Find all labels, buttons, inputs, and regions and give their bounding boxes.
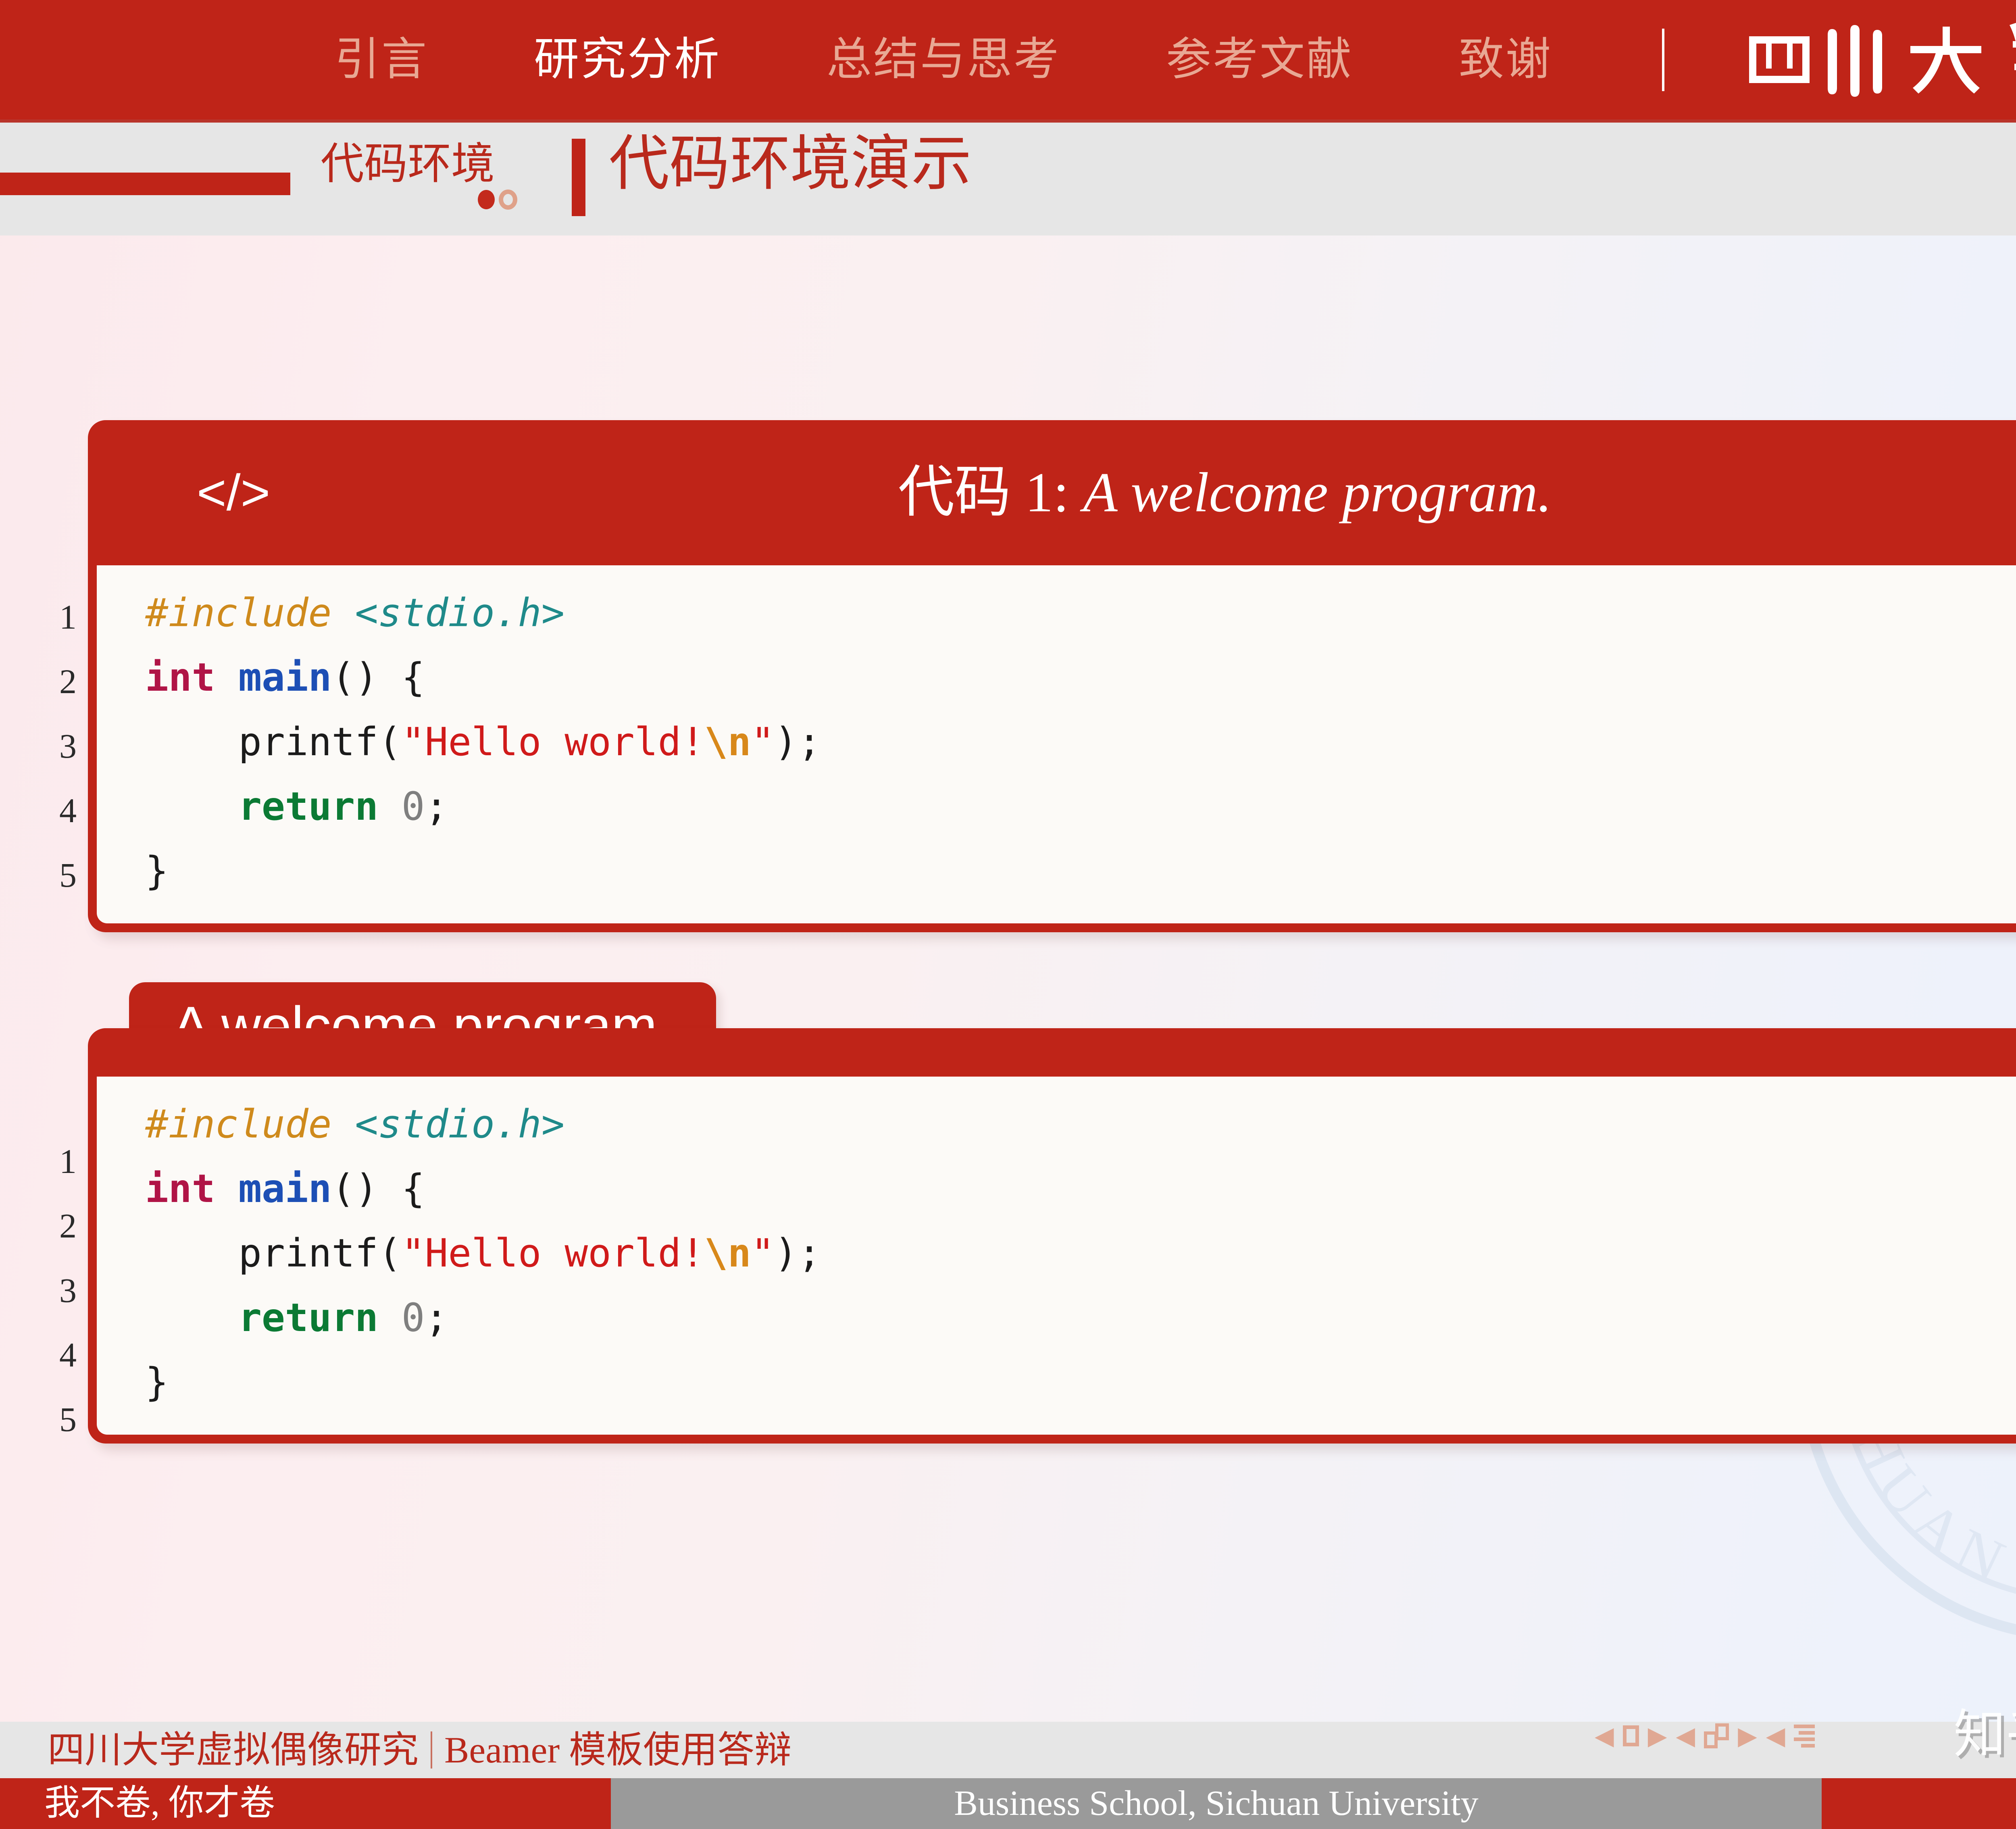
code-token: return <box>238 1295 378 1340</box>
code-block-1-body: #include <stdio.h>int main() { printf("H… <box>97 565 2016 923</box>
nav-item-analysis[interactable]: 研究分析 <box>534 37 721 82</box>
next-slide-icon[interactable]: ▶ <box>1648 1723 1667 1748</box>
code-block-2-line-numbers: 12345 <box>16 1129 77 1452</box>
prev-section-icon[interactable]: ◀ <box>1766 1723 1785 1748</box>
code-line: return 0; <box>97 774 2016 839</box>
page-title: 代码环境演示 <box>609 134 972 194</box>
code-line: } <box>97 839 2016 903</box>
code-token: \n <box>704 719 751 765</box>
nav-item-summary[interactable]: 总结与思考 <box>827 37 1060 82</box>
line-number: 1 <box>16 585 77 649</box>
code-block-1-header: </> 代码 1: A welcome program. </> <box>88 420 2016 565</box>
top-navigation-bar: 引言 研究分析 总结与思考 参考文献 致谢 <box>0 0 2016 119</box>
code-line: #include <stdio.h> <box>97 581 2016 645</box>
code-token: ; <box>425 1295 448 1340</box>
code-line: printf("Hello world!\n"); <box>97 710 2016 774</box>
nav-item-references[interactable]: 参考文献 <box>1166 37 1353 82</box>
line-number: 2 <box>16 649 77 714</box>
code-token <box>215 655 238 700</box>
code-token: 0 <box>402 1295 425 1340</box>
status-bar: 我不卷, 你才卷 Business School, Sichuan Univer… <box>0 1778 2016 1829</box>
code-token <box>145 784 238 829</box>
frames-icon[interactable] <box>1704 1723 1729 1748</box>
code-token: () { <box>331 655 425 700</box>
sichuan-university-logo <box>1737 19 2016 100</box>
footer-divider <box>431 1731 432 1769</box>
code-token: } <box>145 848 169 894</box>
code-token <box>215 1166 238 1211</box>
next-frame-icon[interactable]: ▶ <box>1738 1723 1757 1748</box>
code-token: ); <box>775 719 821 765</box>
code-token: ; <box>425 784 448 829</box>
caption-prefix: 代码 1: <box>898 461 1069 524</box>
code-token: ); <box>775 1231 821 1276</box>
code-block-2-body: #include <stdio.h>int main() { printf("H… <box>97 1077 2016 1435</box>
code-token: "Hello world! <box>402 719 704 765</box>
code-token: } <box>145 1360 169 1405</box>
code-token: return <box>238 784 378 829</box>
line-number: 5 <box>16 1387 77 1452</box>
line-number: 2 <box>16 1194 77 1258</box>
code-token: <stdio.h> <box>355 590 564 635</box>
line-number: 4 <box>16 1323 77 1387</box>
line-number: 4 <box>16 778 77 843</box>
code-token <box>378 784 402 829</box>
code-token: main <box>238 1166 331 1211</box>
code-line: #include <stdio.h> <box>97 1092 2016 1156</box>
nav-item-intro[interactable]: 引言 <box>335 37 428 82</box>
footer-title: 四川大学虚拟偶像研究 Beamer 模板使用答辩 <box>48 1731 791 1769</box>
line-number: 3 <box>16 714 77 778</box>
status-left-slogan: 我不卷, 你才卷 <box>0 1778 611 1829</box>
code-token: () { <box>331 1166 425 1211</box>
line-number: 1 <box>16 1129 77 1194</box>
code-token: #include <box>145 1102 355 1147</box>
code-token: printf( <box>145 719 402 765</box>
code-token: "Hello world! <box>402 1231 704 1276</box>
code-line: printf("Hello world!\n"); <box>97 1221 2016 1285</box>
code-line: int main() { <box>97 645 2016 710</box>
line-number: 3 <box>16 1258 77 1323</box>
subsection-label: 代码环境 <box>321 143 495 186</box>
progress-dot-hollow <box>499 190 517 210</box>
code-token: <stdio.h> <box>355 1102 564 1147</box>
status-right: 2021/11/31 11 / 33 <box>1822 1778 2016 1829</box>
code-block-1-line-numbers: 12345 <box>16 585 77 907</box>
progress-dot-filled <box>478 190 495 209</box>
footer-talk-title: Beamer 模板使用答辩 <box>444 1731 791 1769</box>
line-number: 5 <box>16 843 77 907</box>
nav-item-list: 引言 研究分析 总结与思考 参考文献 致谢 <box>335 29 1737 91</box>
code-block-2: #include <stdio.h>int main() { printf("H… <box>88 1028 2016 1444</box>
slide-canvas: 1896 SICHUAN UNIVERSITY 引言 研究分析 总结与思考 参考… <box>0 0 2016 1829</box>
current-slide-icon[interactable] <box>1623 1725 1639 1746</box>
code-token: main <box>238 655 331 700</box>
outline-icon[interactable] <box>1794 1725 1815 1748</box>
code-token: 0 <box>402 784 425 829</box>
nav-item-acknowledgement[interactable]: 致谢 <box>1459 37 1552 82</box>
code-block-1-caption: 代码 1: A welcome program. <box>898 465 1552 521</box>
code-tag-icon: </> <box>197 467 270 518</box>
subsection-progress-dots <box>478 190 517 210</box>
code-token: int <box>145 1166 215 1211</box>
header-accent-bar <box>572 139 585 216</box>
code-token: \n <box>704 1231 751 1276</box>
code-block-1: </> 代码 1: A welcome program. </> #includ… <box>88 420 2016 932</box>
code-token <box>145 1295 238 1340</box>
header-rule <box>0 173 290 195</box>
code-token: #include <box>145 590 355 635</box>
caption-title: A welcome program. <box>1083 461 1552 524</box>
code-token: " <box>751 719 775 765</box>
code-token: printf( <box>145 1231 402 1276</box>
prev-frame-icon[interactable]: ◀ <box>1676 1723 1695 1748</box>
code-line: return 0; <box>97 1285 2016 1350</box>
section-header-band: 代码环境 代码环境演示 <box>0 119 2016 235</box>
code-token: " <box>751 1231 775 1276</box>
prev-slide-icon[interactable]: ◀ <box>1595 1723 1614 1748</box>
code-token <box>378 1295 402 1340</box>
nav-separator <box>1662 29 1664 91</box>
beamer-navigation-symbols: ◀ ▶ ◀ ▶ ◀ <box>1595 1723 1815 1748</box>
code-line: int main() { <box>97 1156 2016 1221</box>
code-token: int <box>145 655 215 700</box>
status-center-affiliation: Business School, Sichuan University <box>611 1778 1822 1829</box>
code-line: } <box>97 1350 2016 1414</box>
footer-institute: 四川大学虚拟偶像研究 <box>48 1731 419 1769</box>
